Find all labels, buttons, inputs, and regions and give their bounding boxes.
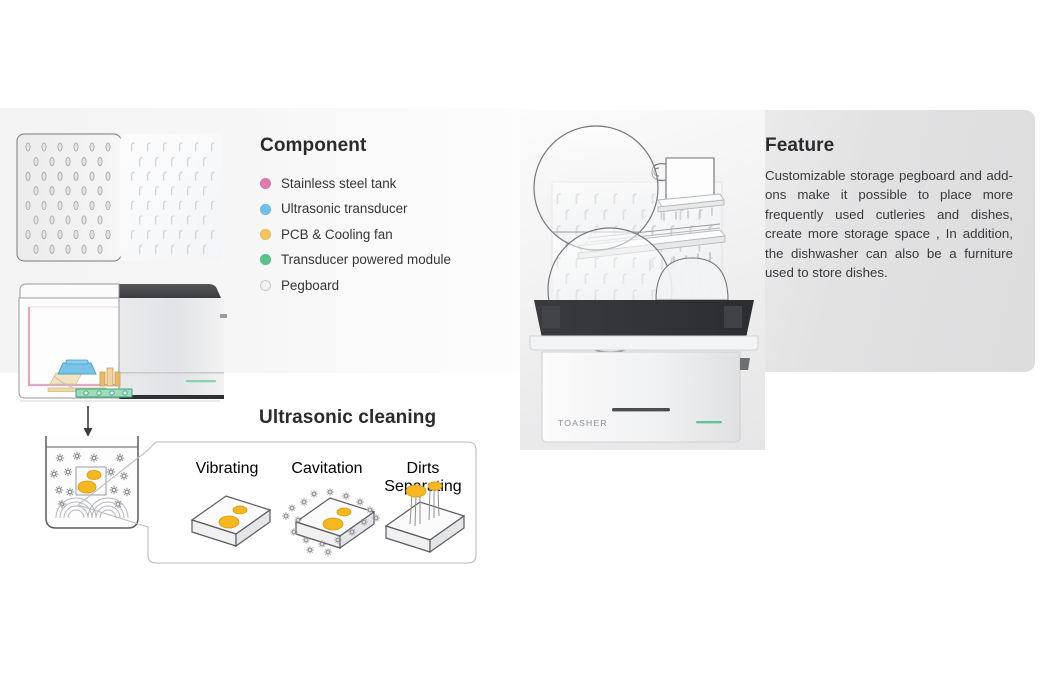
legend-item-label: PCB & Cooling fan: [281, 228, 393, 241]
brand-label: TOASHER: [558, 418, 608, 428]
poster-canvas: TOASHER: [0, 0, 1050, 700]
component-heading: Component: [260, 135, 366, 157]
legend-item-2: PCB & Cooling fan: [260, 222, 510, 247]
legend-dot-green: [260, 254, 271, 265]
legend-dot-blue: [260, 204, 271, 215]
legend-dot-yellow: [260, 229, 271, 240]
feature-description: Customizable storage pegboard and add-on…: [765, 166, 1013, 282]
legend-item-0: Stainless steel tank: [260, 171, 510, 196]
ultrasonic-steps-callout: Vibrating Cavitation Dirts Separating: [140, 440, 476, 565]
legend-item-label: Stainless steel tank: [281, 177, 396, 190]
pegboard-illustration: [16, 133, 224, 263]
legend-dot-pink: [260, 178, 271, 189]
plate-vibrating-icon: [184, 486, 276, 552]
ultrasonic-cleaning-heading: Ultrasonic cleaning: [259, 407, 436, 429]
legend-item-3: Transducer powered module: [260, 247, 510, 272]
legend-item-4: Pegboard: [260, 273, 510, 298]
legend-dot-white: [260, 280, 271, 291]
ultrasonic-tank-diagram: [32, 406, 152, 551]
product-photo-illustration: TOASHER: [528, 120, 760, 445]
plate-dirts-separating-icon: [378, 478, 474, 556]
legend-item-label: Transducer powered module: [281, 253, 451, 266]
dishwasher-cutaway-illustration: [14, 276, 228, 408]
step-label-0: Vibrating: [182, 460, 272, 478]
step-label-1: Cavitation: [282, 460, 372, 478]
power-indicator: [696, 421, 722, 423]
legend-item-label: Ultrasonic transducer: [281, 202, 408, 215]
legend-item-1: Ultrasonic transducer: [260, 196, 510, 221]
feature-heading: Feature: [765, 135, 834, 157]
plate-cavitation-icon: [280, 482, 382, 556]
legend-item-label: Pegboard: [281, 279, 339, 292]
component-legend: Stainless steel tankUltrasonic transduce…: [260, 171, 510, 298]
